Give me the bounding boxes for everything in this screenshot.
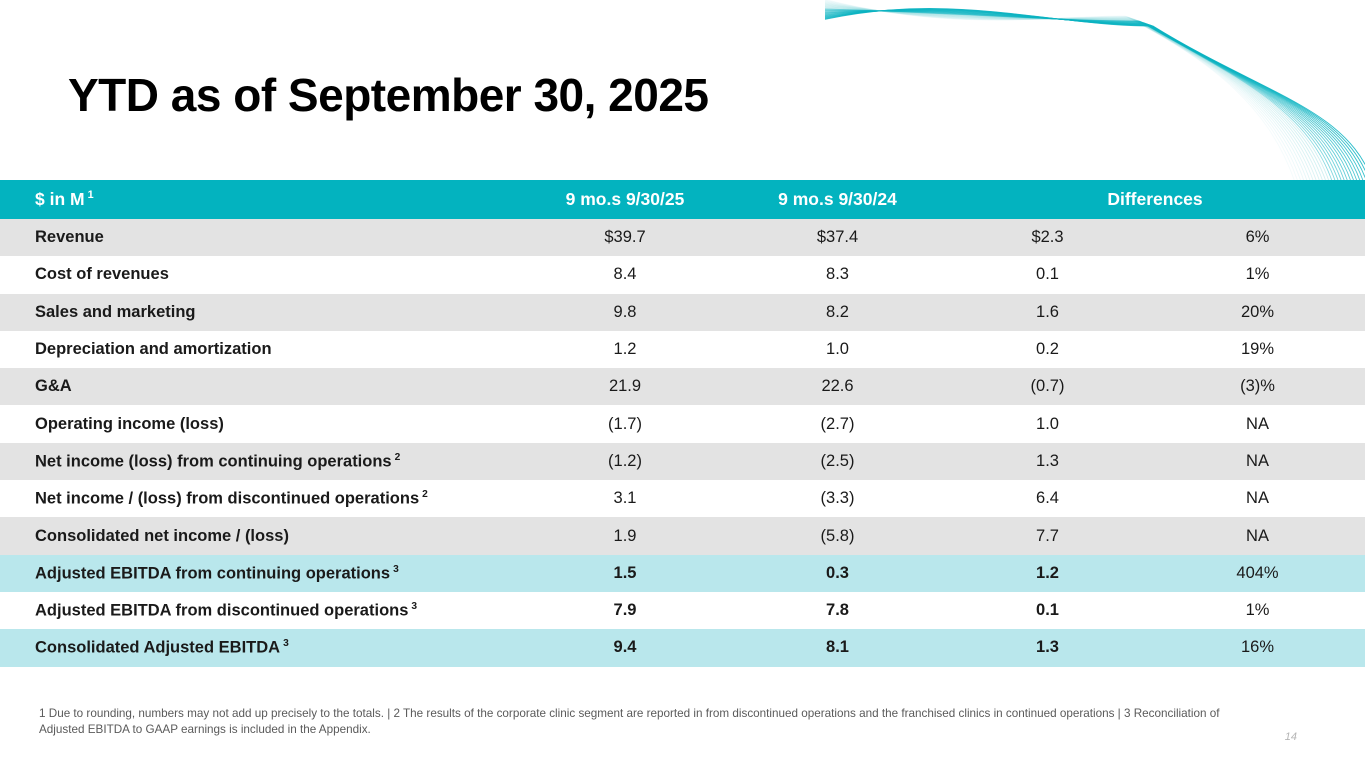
header-label-text: $ in M: [35, 189, 85, 209]
row-label-text: Adjusted EBITDA from continuing operatio…: [35, 564, 390, 582]
row-label-text: Revenue: [35, 228, 104, 246]
header-col-current-period: 9 mo.s 9/30/25: [520, 189, 730, 210]
row-label-text: Depreciation and amortization: [35, 340, 272, 358]
row-value-difference-amount: 1.6: [945, 303, 1150, 322]
row-value-difference-percent: NA: [1150, 415, 1365, 434]
row-label: G&A: [0, 377, 520, 396]
row-value-prior-period: 0.3: [730, 564, 945, 583]
row-footnote-marker: 3: [280, 638, 289, 649]
row-label: Net income (loss) from continuing operat…: [0, 452, 520, 472]
header-col-prior-period: 9 mo.s 9/30/24: [730, 189, 945, 210]
table-row: Consolidated net income / (loss)1.9(5.8)…: [0, 517, 1365, 554]
table-row: Cost of revenues8.48.30.11%: [0, 256, 1365, 293]
row-label-text: Adjusted EBITDA from discontinued operat…: [35, 601, 408, 619]
row-value-difference-percent: 404%: [1150, 564, 1365, 583]
row-value-current-period: 1.2: [520, 340, 730, 359]
row-value-prior-period: 8.1: [730, 638, 945, 657]
row-value-current-period: 3.1: [520, 489, 730, 508]
row-value-difference-amount: 6.4: [945, 489, 1150, 508]
row-label: Net income / (loss) from discontinued op…: [0, 489, 520, 509]
table-header-row: $ in M1 9 mo.s 9/30/25 9 mo.s 9/30/24 Di…: [0, 180, 1365, 219]
row-value-prior-period: 8.2: [730, 303, 945, 322]
row-label-text: Net income / (loss) from discontinued op…: [35, 489, 419, 507]
row-value-prior-period: 22.6: [730, 377, 945, 396]
row-value-difference-amount: 0.1: [945, 265, 1150, 284]
row-value-current-period: 9.8: [520, 303, 730, 322]
row-label: Adjusted EBITDA from continuing operatio…: [0, 564, 520, 584]
table-row: G&A21.922.6(0.7)(3)%: [0, 368, 1365, 405]
table-row: Revenue$39.7$37.4$2.36%: [0, 219, 1365, 256]
row-value-prior-period: 1.0: [730, 340, 945, 359]
row-value-current-period: 1.5: [520, 564, 730, 583]
row-footnote-marker: 3: [390, 564, 399, 575]
row-label-text: Sales and marketing: [35, 303, 195, 321]
row-label-text: G&A: [35, 377, 72, 395]
footnotes-text: 1 Due to rounding, numbers may not add u…: [39, 706, 1254, 738]
row-label-text: Cost of revenues: [35, 265, 169, 283]
row-value-prior-period: 8.3: [730, 265, 945, 284]
row-value-difference-percent: (3)%: [1150, 377, 1365, 396]
table-row: Adjusted EBITDA from continuing operatio…: [0, 555, 1365, 592]
row-value-difference-percent: 19%: [1150, 340, 1365, 359]
row-value-current-period: 8.4: [520, 265, 730, 284]
header-label-cell: $ in M1: [0, 189, 520, 210]
row-value-difference-percent: 1%: [1150, 265, 1365, 284]
table-row: Depreciation and amortization1.21.00.219…: [0, 331, 1365, 368]
row-value-difference-amount: 0.2: [945, 340, 1150, 359]
row-value-difference-amount: (0.7): [945, 377, 1150, 396]
row-value-difference-percent: NA: [1150, 527, 1365, 546]
row-value-current-period: $39.7: [520, 228, 730, 247]
row-value-difference-percent: 6%: [1150, 228, 1365, 247]
row-label: Revenue: [0, 228, 520, 247]
row-label: Adjusted EBITDA from discontinued operat…: [0, 601, 520, 621]
row-label: Operating income (loss): [0, 415, 520, 434]
row-footnote-marker: 3: [408, 601, 417, 612]
table-row: Adjusted EBITDA from discontinued operat…: [0, 592, 1365, 629]
row-value-prior-period: 7.8: [730, 601, 945, 620]
row-value-difference-percent: 16%: [1150, 638, 1365, 657]
row-label-text: Consolidated Adjusted EBITDA: [35, 639, 280, 657]
row-value-difference-percent: NA: [1150, 489, 1365, 508]
row-label-text: Operating income (loss): [35, 415, 224, 433]
page-title: YTD as of September 30, 2025: [68, 68, 709, 122]
row-value-current-period: 1.9: [520, 527, 730, 546]
row-value-difference-amount: 1.3: [945, 452, 1150, 471]
row-label: Depreciation and amortization: [0, 340, 520, 359]
row-value-current-period: 21.9: [520, 377, 730, 396]
row-value-difference-percent: 1%: [1150, 601, 1365, 620]
header-label-footnote-marker: 1: [85, 189, 94, 201]
decorative-swoosh-graphic: [825, 0, 1365, 182]
row-value-difference-percent: 20%: [1150, 303, 1365, 322]
table-row: Net income (loss) from continuing operat…: [0, 443, 1365, 480]
row-value-difference-amount: 1.3: [945, 638, 1150, 657]
row-footnote-marker: 2: [419, 489, 428, 500]
row-label: Sales and marketing: [0, 303, 520, 322]
row-value-current-period: 7.9: [520, 601, 730, 620]
row-value-current-period: (1.7): [520, 415, 730, 434]
row-value-current-period: 9.4: [520, 638, 730, 657]
row-label-text: Consolidated net income / (loss): [35, 527, 289, 545]
row-value-current-period: (1.2): [520, 452, 730, 471]
row-value-prior-period: (3.3): [730, 489, 945, 508]
table-body: Revenue$39.7$37.4$2.36%Cost of revenues8…: [0, 219, 1365, 667]
row-label: Cost of revenues: [0, 265, 520, 284]
row-value-prior-period: (2.7): [730, 415, 945, 434]
row-value-prior-period: (2.5): [730, 452, 945, 471]
row-value-difference-amount: 0.1: [945, 601, 1150, 620]
table-row: Net income / (loss) from discontinued op…: [0, 480, 1365, 517]
table-row: Operating income (loss)(1.7)(2.7)1.0NA: [0, 405, 1365, 442]
financial-table: $ in M1 9 mo.s 9/30/25 9 mo.s 9/30/24 Di…: [0, 180, 1365, 667]
table-row: Consolidated Adjusted EBITDA39.48.11.316…: [0, 629, 1365, 666]
row-value-prior-period: (5.8): [730, 527, 945, 546]
page-number: 14: [1285, 731, 1297, 743]
row-label: Consolidated net income / (loss): [0, 527, 520, 546]
row-value-difference-amount: 1.0: [945, 415, 1150, 434]
row-footnote-marker: 2: [392, 452, 401, 463]
header-col-differences: Differences: [945, 189, 1365, 210]
row-value-difference-amount: $2.3: [945, 228, 1150, 247]
row-value-difference-percent: NA: [1150, 452, 1365, 471]
row-value-difference-amount: 1.2: [945, 564, 1150, 583]
table-row: Sales and marketing9.88.21.620%: [0, 294, 1365, 331]
row-label: Consolidated Adjusted EBITDA3: [0, 638, 520, 658]
row-value-prior-period: $37.4: [730, 228, 945, 247]
row-label-text: Net income (loss) from continuing operat…: [35, 452, 392, 470]
row-value-difference-amount: 7.7: [945, 527, 1150, 546]
